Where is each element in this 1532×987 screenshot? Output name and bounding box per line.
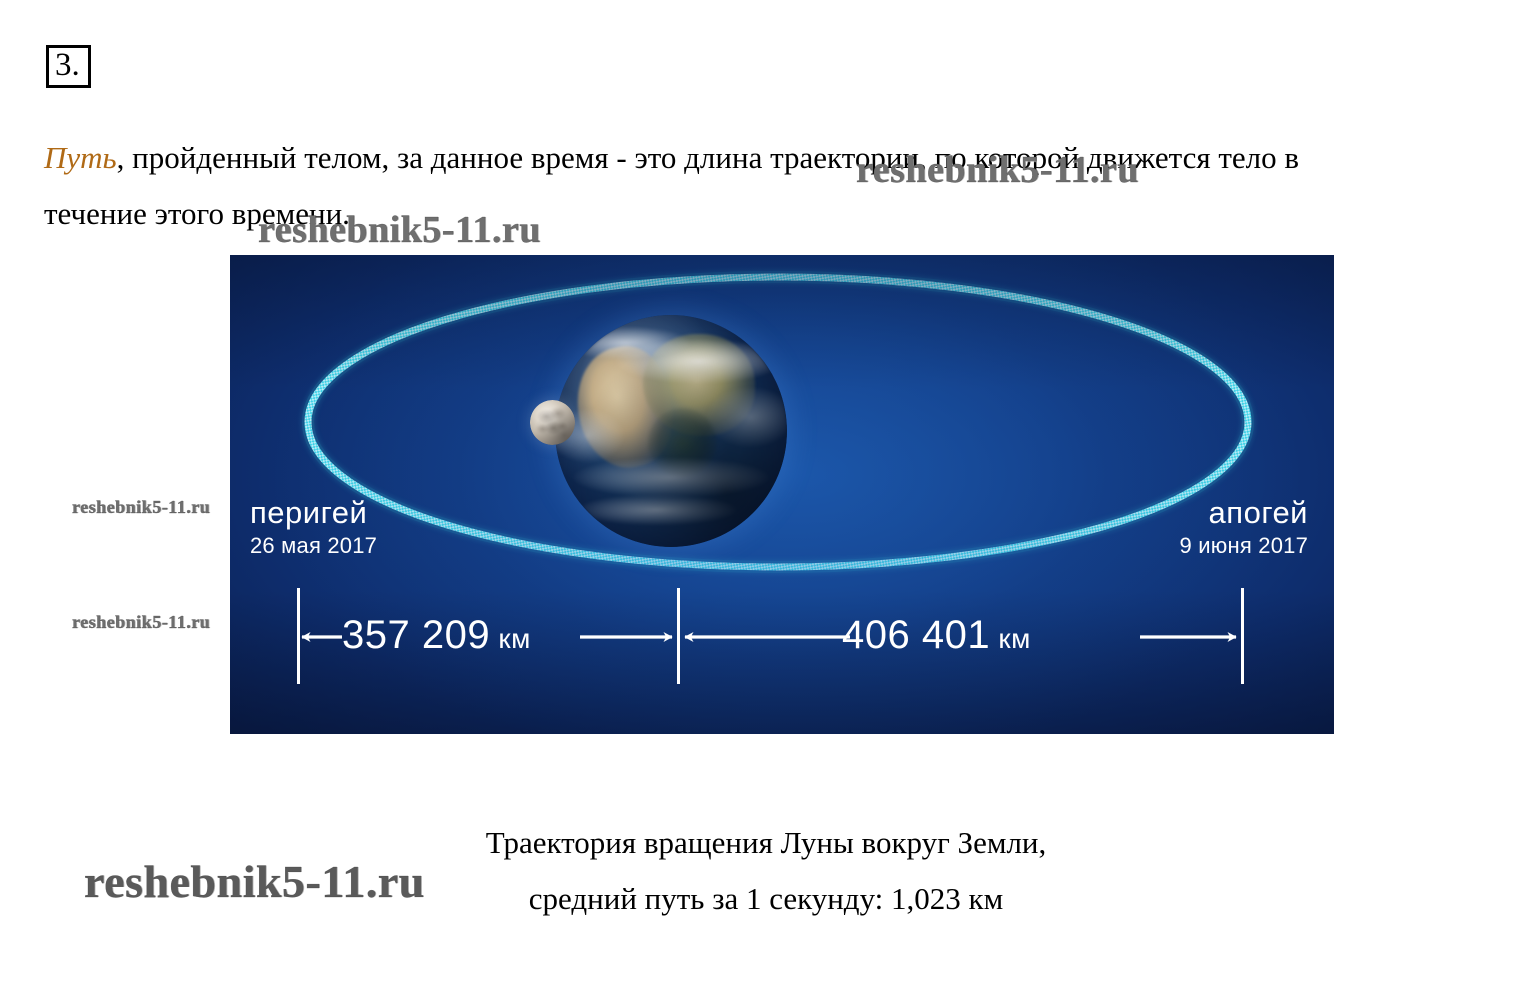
- watermark: reshebnik5-11.ru: [72, 612, 210, 633]
- ruler-arrows: [230, 255, 1334, 734]
- watermark: reshebnik5-11.ru: [258, 208, 541, 252]
- watermark: reshebnik5-11.ru: [72, 497, 210, 518]
- problem-number-box: 3.: [46, 45, 91, 88]
- problem-number-label: 3.: [55, 47, 80, 83]
- statement-term: Путь: [44, 140, 117, 175]
- perigee-distance-unit: км: [498, 623, 531, 654]
- perigee-distance-value: 357 209 км: [342, 615, 531, 659]
- statement-paragraph: Путь, пройденный телом, за данное время …: [44, 130, 1374, 242]
- watermark: reshebnik5-11.ru: [84, 855, 425, 908]
- apogee-distance-value: 406 401 км: [842, 615, 1031, 659]
- watermark: reshebnik5-11.ru: [856, 148, 1139, 192]
- apogee-distance-unit: км: [998, 623, 1031, 654]
- moon-orbit-diagram: перигей 26 мая 2017 апогей 9 июня 2017: [230, 255, 1334, 734]
- apogee-distance-number: 406 401: [842, 613, 990, 657]
- distance-ruler: 357 209 км 406 401 км: [230, 255, 1334, 734]
- perigee-distance-number: 357 209: [342, 613, 490, 657]
